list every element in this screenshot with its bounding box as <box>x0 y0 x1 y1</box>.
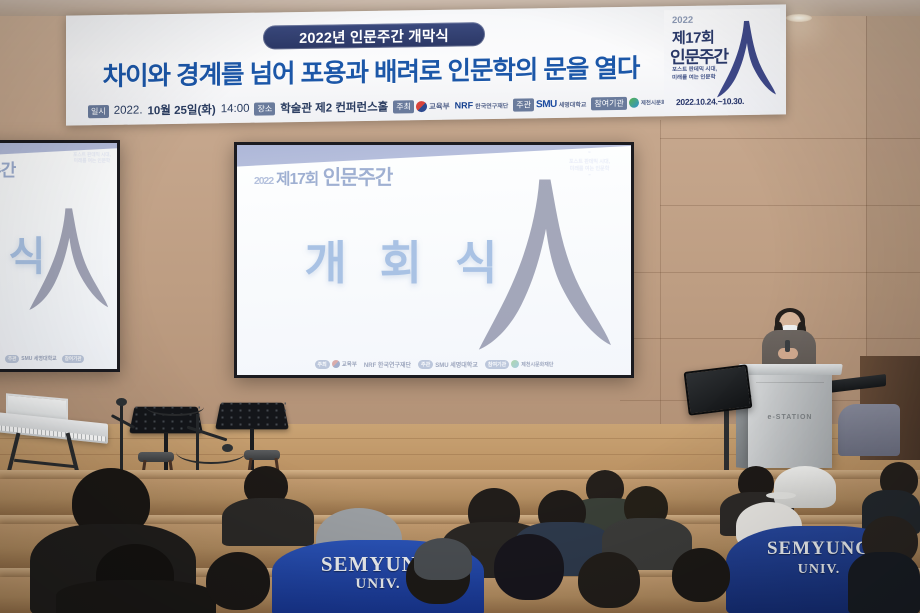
art-year: 2022 <box>672 15 693 26</box>
event-banner: 2022년 인문주간 개막식 차이와 경계를 넘어 포용과 배려로 인문학의 문… <box>66 4 786 125</box>
ceiling-downlight <box>786 14 812 22</box>
projection-screen-left: 2022제17회 인문주간 포스트 판데믹 시대, 미래를 여는 인문학 개 회… <box>0 140 120 372</box>
art-tagline-2: 미래를 여는 인문학 <box>672 73 716 82</box>
nrf-icon: NRF <box>455 100 474 110</box>
podium: e-STATION <box>748 372 832 468</box>
logo-tag-organizer: 주관 <box>513 98 534 111</box>
handheld-microphone-icon <box>785 340 790 352</box>
podium-brand-label: e-STATION <box>748 414 832 421</box>
banner-logo-smu: 주관 SMU 세명대학교 <box>513 97 586 111</box>
banner-date-plain: 2022. <box>114 104 143 116</box>
art-event-name: 인문주간 <box>670 42 728 68</box>
leaf-icon <box>629 98 639 108</box>
banner-date-bold: 10월 25일(화) <box>148 101 216 118</box>
projection-screen-main: 2022제17회 인문주간 “ 포스트 판데믹 시대, 미래를 여는 인문학 ”… <box>234 142 634 378</box>
banner-place: 학술관 제2 컨퍼런스홀 <box>280 99 388 117</box>
screen-frame-left <box>0 140 120 372</box>
government-emblem-icon <box>416 100 427 111</box>
lectern-monitor <box>684 364 753 415</box>
banner-time-label: 일시 <box>88 104 109 117</box>
banner-logo-moe-label: 교육부 <box>429 100 450 111</box>
wall-seam-vertical <box>660 120 661 466</box>
banner-place-label: 장소 <box>254 102 275 115</box>
logo-tag-host: 주최 <box>393 100 414 113</box>
banner-logo-moe: 주최 교육부 <box>393 99 449 113</box>
auditorium-photo: 2022년 인문주간 개막식 차이와 경계를 넘어 포용과 배려로 인문학의 문… <box>0 0 920 613</box>
banner-art-panel: 2022 제17회 인문주간 포스트 판데믹 시대, 미래를 여는 인문학 20… <box>664 8 780 112</box>
audio-cable <box>176 440 246 464</box>
smu-icon: SMU <box>536 98 557 109</box>
banner-title: 차이와 경계를 넘어 포용과 배려로 인문학의 문을 열다 <box>82 46 660 93</box>
banner-time: 14:00 <box>221 103 250 115</box>
podium-top <box>737 364 843 375</box>
banner-badge: 2022년 인문주간 개막식 <box>263 22 485 49</box>
banner-logo-smu-sub: 세명대학교 <box>559 99 587 108</box>
screen-frame-main <box>234 142 634 378</box>
art-dates: 2022.10.24.~10.30. <box>676 96 744 107</box>
banner-logo-nrf-sub: 한국연구재단 <box>475 100 508 110</box>
banner-logo-nrf: NRF 한국연구재단 <box>455 100 509 111</box>
audio-cable <box>146 398 204 416</box>
banner-info-row: 일시 2022. 10월 25일(화) 14:00 장소 학술관 제2 컨퍼런스… <box>88 94 676 119</box>
stage-chair <box>838 404 900 456</box>
logo-tag-partner: 참여기관 <box>591 96 626 110</box>
